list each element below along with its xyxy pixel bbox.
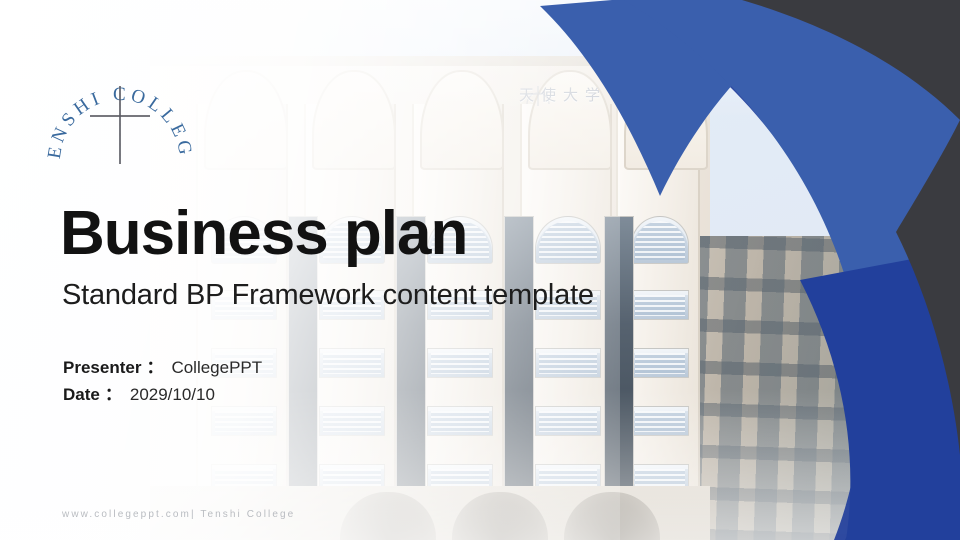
slide-subtitle: Standard BP Framework content template [62, 279, 594, 312]
slide-footer: www.collegeppt.com| Tenshi College [62, 509, 295, 520]
slide-meta: Presenter ： CollegePPT Date ： 2029/10/10 [63, 354, 262, 408]
logo-arc-text: TENSHI COLLEGE [42, 40, 196, 160]
date-label: Date [63, 381, 100, 408]
presenter-label: Presenter [63, 354, 141, 381]
presentation-slide: 天使大学 [0, 0, 960, 540]
date-separator: ： [100, 381, 124, 408]
date-row: Date ： 2029/10/10 [63, 381, 262, 408]
presenter-value: CollegePPT [165, 354, 262, 381]
college-logo: TENSHI COLLEGE [42, 40, 198, 190]
presenter-row: Presenter ： CollegePPT [63, 354, 262, 381]
presenter-separator: ： [141, 354, 165, 381]
slide-title: Business plan [60, 203, 467, 265]
date-value: 2029/10/10 [124, 381, 215, 408]
